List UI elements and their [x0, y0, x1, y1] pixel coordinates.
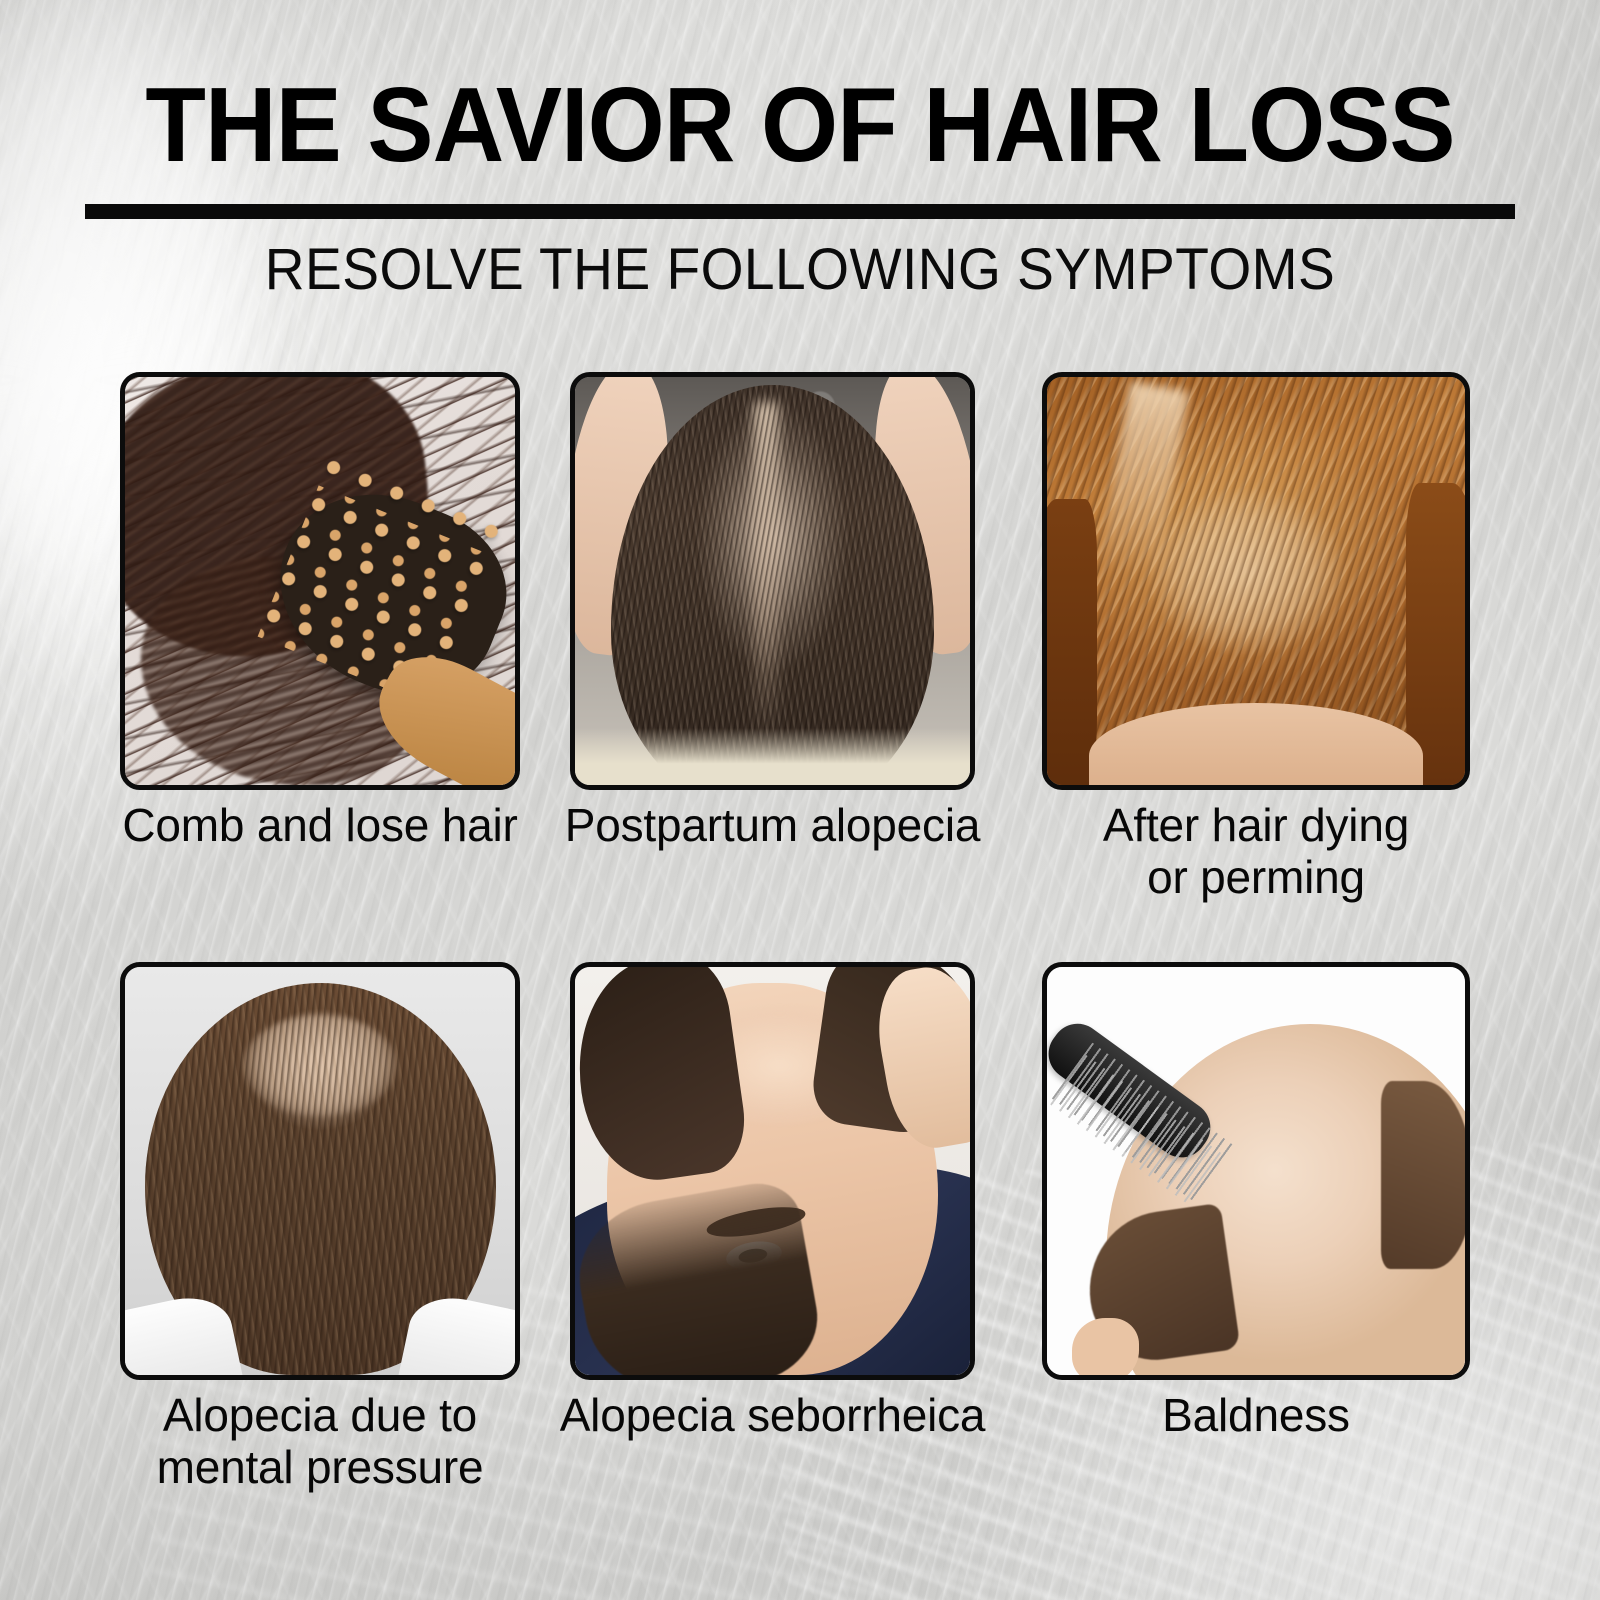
symptom-caption: Comb and lose hair	[100, 800, 540, 852]
symptom-image-frame	[120, 962, 520, 1380]
symptom-caption-line-1: After hair dying	[1022, 800, 1490, 852]
symptom-image-frame	[570, 372, 975, 790]
image-baldness	[1047, 967, 1465, 1375]
symptom-card-alopecia-seborrheica[interactable]: Alopecia seborrheica	[570, 962, 975, 1380]
symptom-caption-line-1: Alopecia due to	[100, 1390, 540, 1442]
symptom-image-frame	[1042, 962, 1470, 1380]
symptom-caption-line-2: or perming	[1022, 852, 1490, 904]
symptom-card-after-hair-dying-or-perming[interactable]: After hair dying or perming	[1042, 372, 1470, 790]
image-alopecia-seborrheica	[575, 967, 970, 1375]
image-comb-and-lose-hair	[125, 377, 515, 785]
symptom-caption: Alopecia due to mental pressure	[100, 1390, 540, 1493]
symptom-caption-line-2: mental pressure	[100, 1442, 540, 1494]
symptom-grid: Comb and lose hair Postpartum alopecia	[0, 0, 1600, 1600]
image-after-hair-dying-or-perming	[1047, 377, 1465, 785]
symptom-image-frame	[120, 372, 520, 790]
symptom-card-comb-and-lose-hair[interactable]: Comb and lose hair	[120, 372, 520, 790]
symptom-image-frame	[570, 962, 975, 1380]
poster: THE SAVIOR OF HAIR LOSS RESOLVE THE FOLL…	[0, 0, 1600, 1600]
symptom-card-baldness[interactable]: Baldness	[1042, 962, 1470, 1380]
symptom-caption: Postpartum alopecia	[550, 800, 995, 852]
symptom-caption: After hair dying or perming	[1022, 800, 1490, 903]
symptom-card-alopecia-due-to-mental-pressure[interactable]: Alopecia due to mental pressure	[120, 962, 520, 1380]
symptom-card-postpartum-alopecia[interactable]: Postpartum alopecia	[570, 372, 975, 790]
symptom-image-frame	[1042, 372, 1470, 790]
symptom-caption: Baldness	[1022, 1390, 1490, 1442]
symptom-caption: Alopecia seborrheica	[550, 1390, 995, 1442]
image-postpartum-alopecia	[575, 377, 970, 785]
image-alopecia-due-to-mental-pressure	[125, 967, 515, 1375]
